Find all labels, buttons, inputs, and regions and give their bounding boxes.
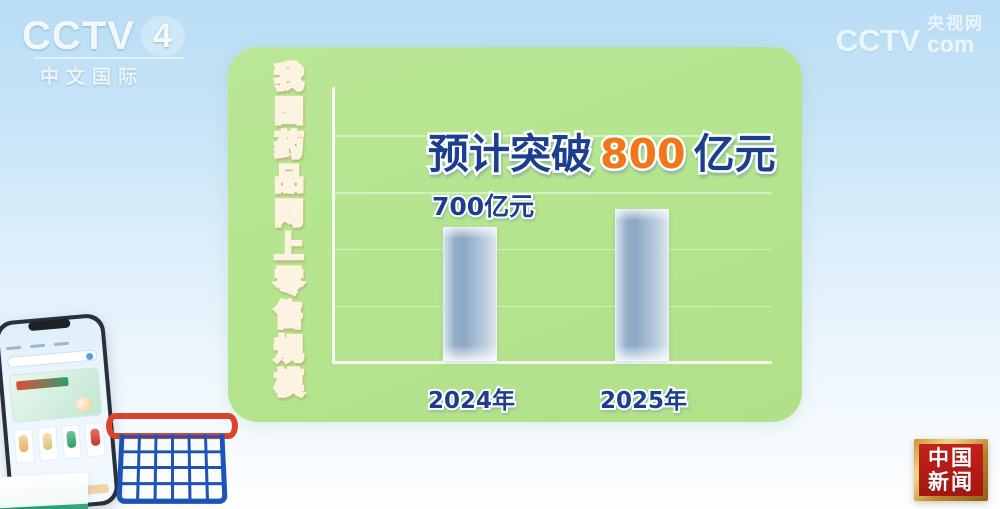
basket-rim	[106, 413, 238, 439]
banner-product-image	[75, 397, 93, 412]
product-card	[61, 424, 83, 460]
program-logo: 中国 新闻	[914, 439, 988, 501]
watermark-right-group: 央视网 com	[927, 15, 984, 56]
watermark-chinese-text: 央视网	[927, 15, 984, 33]
title-char: 我	[274, 61, 303, 94]
plot-area: 700亿元 2024年 2025年	[332, 87, 772, 364]
app-product-grid	[13, 422, 106, 464]
title-char: 上	[274, 231, 303, 264]
title-char: 零	[274, 265, 303, 298]
gridline	[335, 249, 772, 251]
product-illustration	[0, 300, 246, 509]
product-card	[37, 426, 59, 462]
x-axis-line	[332, 361, 772, 364]
channel-logo-wordmark: CCTV 4	[22, 16, 212, 56]
channel-subtitle: 中文国际	[22, 62, 212, 89]
program-logo-line1: 中国	[928, 447, 974, 470]
channel-logo-divider	[34, 57, 184, 59]
chart-headline: 预计突破 800 亿元	[428, 131, 776, 177]
program-logo-plate: 中国 新闻	[919, 444, 983, 496]
shopping-basket-icon	[106, 413, 238, 505]
app-tab-bar	[6, 339, 96, 350]
smartphone-image	[0, 313, 120, 509]
channel-logo: CCTV 4 中文国际	[22, 16, 212, 82]
basket-body	[116, 434, 227, 504]
title-char: 规	[274, 333, 303, 366]
channel-logo-text: CCTV	[22, 16, 135, 56]
website-watermark: CCTV 央视网 com	[836, 14, 984, 56]
app-tab	[54, 342, 69, 346]
category-label-2024: 2024年	[428, 388, 515, 414]
headline-prefix: 预计突破	[428, 131, 592, 177]
title-char: 药	[274, 129, 303, 162]
app-tab	[6, 346, 21, 350]
app-tab	[30, 344, 45, 348]
watermark-domain-text: com	[927, 33, 974, 56]
product-card	[13, 428, 35, 464]
gridline	[335, 306, 772, 308]
headline-suffix: 亿元	[694, 131, 776, 177]
category-label-2025: 2025年	[600, 388, 687, 414]
headline-number: 800	[600, 131, 686, 177]
phone-screen	[0, 317, 116, 509]
title-char: 国	[274, 95, 303, 128]
phone-notch	[28, 319, 71, 332]
medicine-box-image	[0, 473, 88, 509]
banner-tag	[16, 377, 69, 390]
chart-vertical-title: 我 国 药 品 网 上 零 售 规 模	[266, 61, 312, 400]
bar-2024	[443, 227, 497, 361]
title-char: 售	[274, 299, 303, 332]
product-card	[84, 422, 106, 458]
title-char: 模	[274, 367, 303, 400]
app-bottom-banner	[19, 484, 109, 501]
title-char: 品	[274, 163, 303, 196]
bar-2025	[615, 209, 669, 361]
bar-value-2024: 700亿元	[432, 193, 534, 221]
app-search-bar	[7, 349, 98, 368]
y-axis-line	[332, 87, 335, 364]
program-logo-line2: 新闻	[928, 471, 974, 494]
app-promo-banner	[9, 367, 103, 423]
watermark-cctv-text: CCTV	[836, 25, 920, 56]
channel-number: 4	[141, 16, 185, 56]
chart-panel: 我 国 药 品 网 上 零 售 规 模 700亿元 2024年 2025年 预计…	[228, 47, 802, 422]
title-char: 网	[274, 197, 303, 230]
gridline	[335, 192, 772, 194]
